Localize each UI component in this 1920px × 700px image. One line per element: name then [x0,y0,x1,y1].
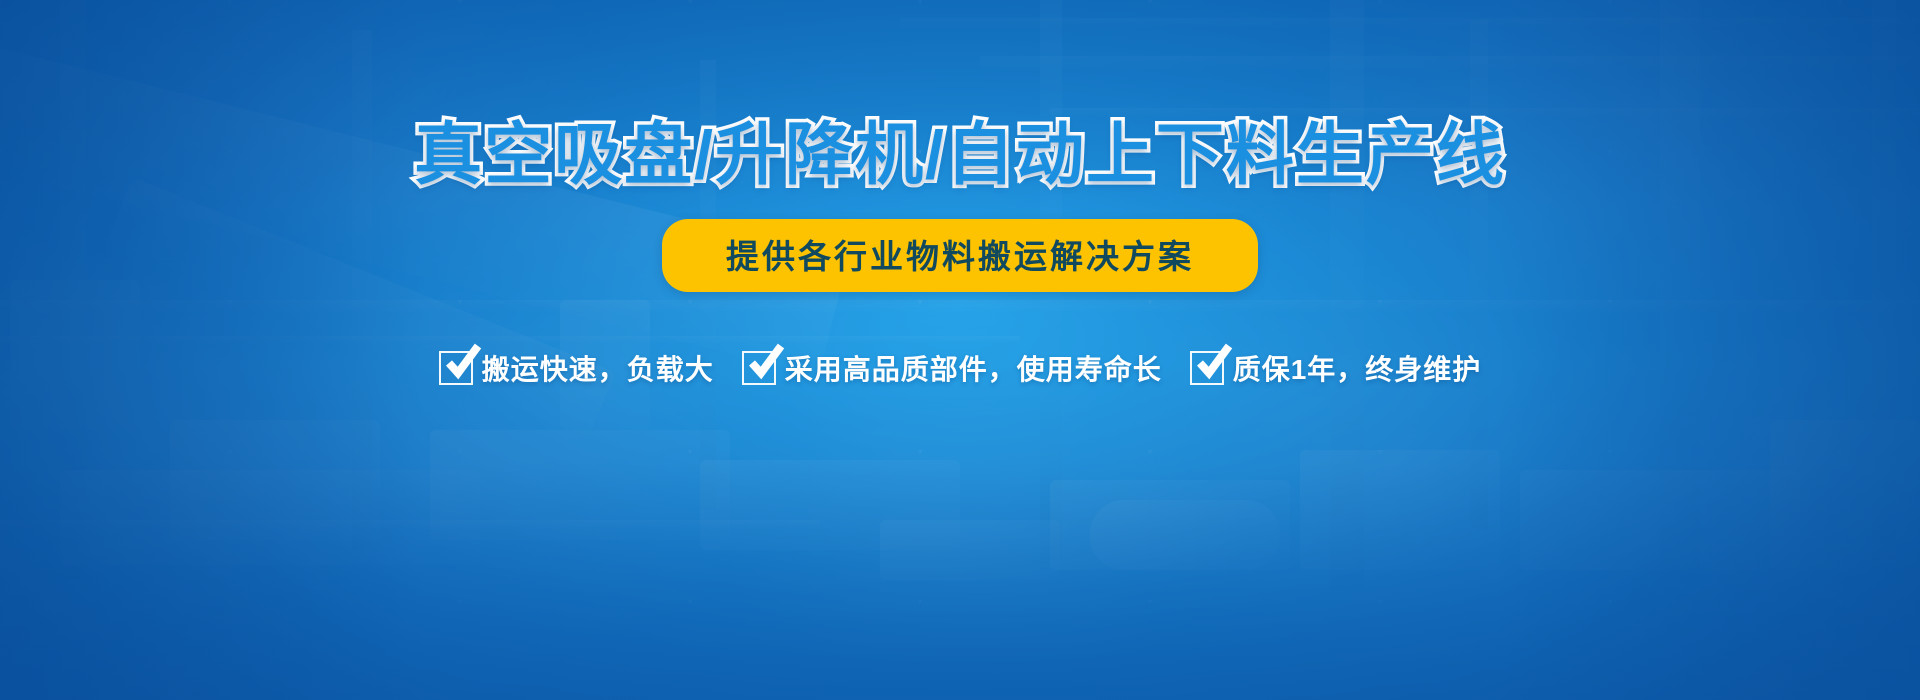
banner-content: 真空吸盘/升降机/自动上下料生产线 提供各行业物料搬运解决方案 搬运快速，负载大… [0,0,1920,700]
feature-item: 采用高品质部件，使用寿命长 [742,348,1162,388]
feature-label: 质保1年，终身维护 [1233,348,1482,388]
hero-banner: 真空吸盘/升降机/自动上下料生产线 提供各行业物料搬运解决方案 搬运快速，负载大… [0,0,1920,700]
checkbox-check-icon [742,351,776,385]
feature-item: 搬运快速，负载大 [439,348,714,388]
feature-label: 搬运快速，负载大 [482,348,714,388]
checkbox-check-icon [439,351,473,385]
banner-subtitle-pill: 提供各行业物料搬运解决方案 [662,219,1258,292]
feature-list: 搬运快速，负载大 采用高品质部件，使用寿命长 质保1年，终身维护 [439,348,1482,388]
feature-item: 质保1年，终身维护 [1190,348,1482,388]
feature-label: 采用高品质部件，使用寿命长 [785,348,1162,388]
banner-headline: 真空吸盘/升降机/自动上下料生产线 [414,120,1506,191]
checkbox-check-icon [1190,351,1224,385]
